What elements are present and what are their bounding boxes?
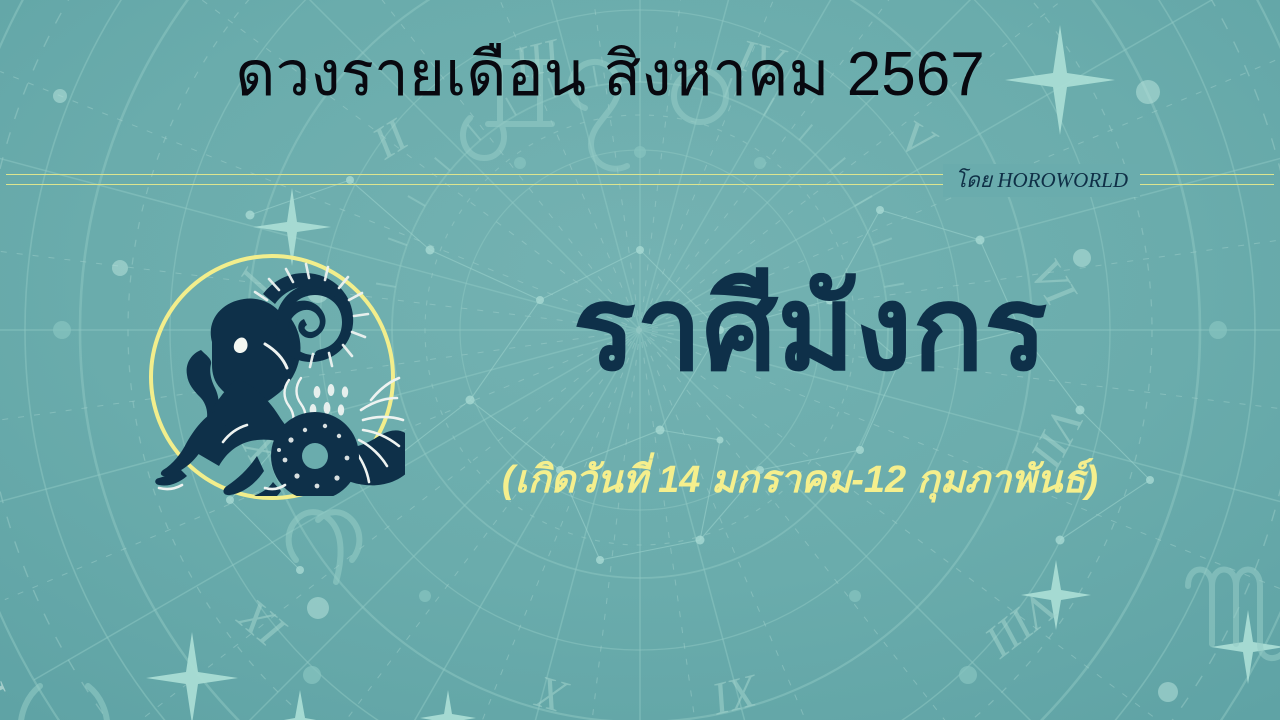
zodiac-date-range: (เกิดวันที่ 14 มกราคม-12 กุมภาพันธ์)	[430, 460, 1170, 502]
byline: โดย HOROWORLD	[943, 164, 1140, 197]
capricorn-sea-goat-icon	[139, 260, 405, 496]
zodiac-sign-name: ราศีมังกร	[430, 268, 1190, 392]
zodiac-emblem	[149, 254, 395, 500]
page-title: ดวงรายเดือน สิงหาคม 2567	[0, 44, 1280, 106]
poster-canvas: III IV II V I VI XII VII IX VIII X XI	[0, 0, 1280, 720]
